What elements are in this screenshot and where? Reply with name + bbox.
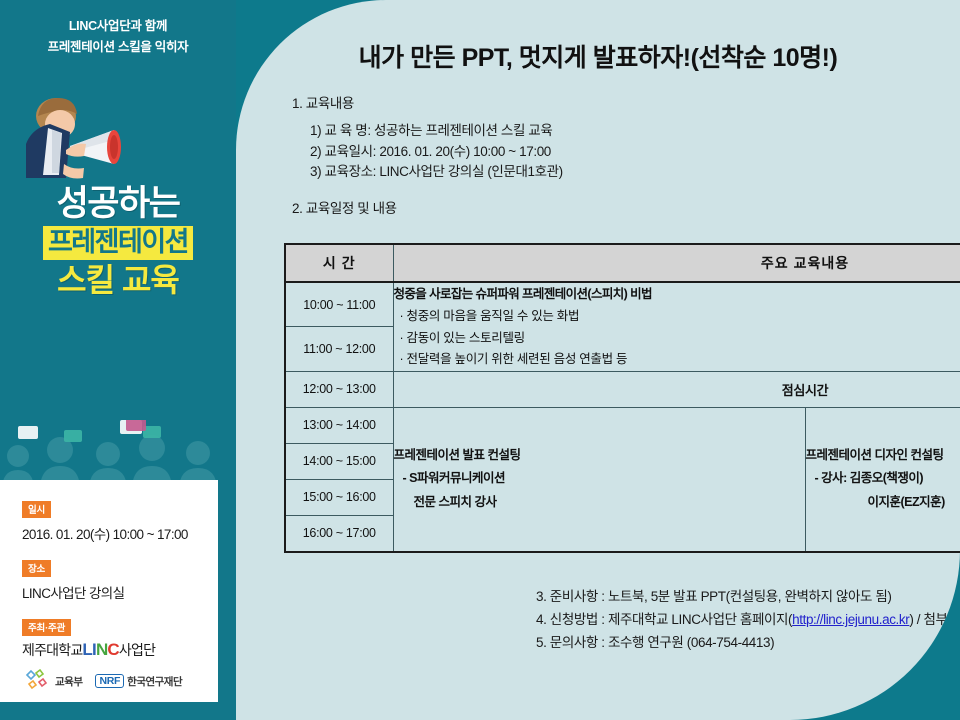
afternoon-left-line2: - S파워커뮤니케이션: [394, 467, 805, 490]
host-organization: 제주대학교LINC사업단: [22, 640, 218, 660]
info-place-block: 장소 LINC사업단 강의실: [22, 559, 218, 602]
header-time: 시 간: [285, 244, 393, 282]
morning-content-cell: 청중을 사로잡는 슈퍼파워 프레젠테이션(스피치) 비법 · 청중의 마음을 움…: [393, 282, 960, 371]
schedule-table: 시 간 주요 교육내용 구 성 10:00 ~ 11:00 청중을 사로잡는 슈…: [284, 243, 960, 553]
time-cell: 14:00 ~ 15:00: [285, 443, 393, 479]
afternoon-left-line3: 전문 스피치 강사: [394, 491, 805, 514]
morning-title: 청중을 사로잡는 슈퍼파워 프레젠테이션(스피치) 비법: [394, 283, 960, 302]
footnote-item-4: 4. 신청방법 : 제주대학교 LINC사업단 홈페이지(http://linc…: [536, 608, 960, 631]
moe-logo-text: 교육부: [55, 674, 82, 689]
tagline-line-1: LINC사업단과 함께: [0, 16, 236, 37]
time-cell: 16:00 ~ 17:00: [285, 515, 393, 552]
afternoon-left-cell: 프레젠테이션 발표 컨설팅 - S파워커뮤니케이션 전문 스피치 강사: [393, 407, 805, 552]
footnotes: 3. 준비사항 : 노트북, 5분 발표 PPT(컨설팅용, 완벽하지 않아도 …: [536, 585, 960, 655]
morning-bullet: · 전달력을 높이기 위한 세련된 음성 연출법 등: [394, 349, 960, 371]
list-item: 1) 교 육 명: 성공하는 프레젠테이션 스킬 교육: [310, 121, 932, 142]
place-value: LINC사업단 강의실: [22, 582, 218, 602]
time-cell: 11:00 ~ 12:00: [285, 327, 393, 371]
left-panel: LINC사업단과 함께 프레젠테이션 스킬을 익히자 성공하는 프: [0, 0, 236, 720]
host-badge: 주최·주관: [22, 619, 71, 637]
time-cell: 10:00 ~ 11:00: [285, 282, 393, 327]
heading-line-2: 프레젠테이션: [43, 226, 193, 260]
page-title: 내가 만든 PPT, 멋지게 발표하자!(선착순 10명!): [236, 38, 960, 74]
place-badge: 장소: [22, 560, 51, 578]
nrf-logo-text: 한국연구재단: [127, 674, 182, 689]
time-cell: 15:00 ~ 16:00: [285, 479, 393, 515]
table-row: 13:00 ~ 14:00 프레젠테이션 발표 컨설팅 - S파워커뮤니케이션 …: [285, 407, 960, 443]
table-header-row: 시 간 주요 교육내용 구 성: [285, 244, 960, 282]
date-badge: 일시: [22, 501, 51, 519]
left-heading: 성공하는 프레젠테이션 스킬 교육: [0, 185, 236, 298]
date-value: 2016. 01. 20(수) 10:00 ~ 17:00: [22, 523, 218, 543]
host-suffix: 사업단: [119, 642, 155, 658]
afternoon-right-line3: 이지훈(EZ지훈): [806, 491, 960, 514]
linc-letter-c: C: [107, 640, 118, 659]
tagline-line-2: 프레젠테이션 스킬을 익히자: [0, 37, 236, 58]
time-cell: 13:00 ~ 14:00: [285, 407, 393, 443]
afternoon-left-title: 프레젠테이션 발표 컨설팅: [394, 444, 805, 467]
speaker-megaphone-illustration: [8, 92, 158, 197]
list-item: 2) 교육일시: 2016. 01. 20(수) 10:00 ~ 17:00: [310, 142, 932, 163]
heading-line-3: 스킬 교육: [0, 263, 236, 299]
heading-line-1: 성공하는: [0, 185, 236, 223]
info-card: 일시 2016. 01. 20(수) 10:00 ~ 17:00 장소 LINC…: [0, 480, 218, 702]
linc-letter-l: L: [82, 640, 92, 659]
footnote-item-5: 5. 문의사항 : 조수행 연구원 (064-754-4413): [536, 631, 960, 654]
sponsor-logos: 교육부 NRF 한국연구재단: [22, 669, 218, 693]
nrf-mark: NRF: [95, 674, 124, 688]
morning-bullet: · 청중의 마음을 움직일 수 있는 화법: [394, 306, 960, 328]
table-row: 12:00 ~ 13:00 점심시간: [285, 371, 960, 407]
time-cell: 12:00 ~ 13:00: [285, 371, 393, 407]
afternoon-right-cell: 프레젠테이션 디자인 컨설팅 - 강사: 김종오(책쟁이) 이지훈(EZ지훈): [805, 407, 960, 552]
left-tagline: LINC사업단과 함께 프레젠테이션 스킬을 익히자: [0, 16, 236, 57]
list-item: 3) 교육장소: LINC사업단 강의실 (인문대1호관): [310, 162, 932, 183]
section-1-heading: 1. 교육내용: [292, 92, 932, 112]
host-prefix: 제주대학교: [22, 642, 82, 658]
table-row: 10:00 ~ 11:00 청중을 사로잡는 슈퍼파워 프레젠테이션(스피치) …: [285, 282, 960, 327]
schedule-table-wrapper: 시 간 주요 교육내용 구 성 10:00 ~ 11:00 청중을 사로잡는 슈…: [284, 243, 904, 553]
section-2-heading: 2. 교육일정 및 내용: [292, 197, 932, 217]
info-date-block: 일시 2016. 01. 20(수) 10:00 ~ 17:00: [22, 500, 218, 543]
section-1-list: 1) 교 육 명: 성공하는 프레젠테이션 스킬 교육 2) 교육일시: 201…: [310, 121, 932, 183]
afternoon-right-line2: - 강사: 김종오(책쟁이): [806, 467, 960, 490]
info-host-block: 주최·주관 제주대학교LINC사업단: [22, 618, 218, 693]
lunch-cell: 점심시간: [393, 371, 960, 407]
moe-star-icon: [22, 669, 52, 693]
linc-homepage-link[interactable]: http://linc.jejunu.ac.kr: [792, 612, 909, 627]
header-content: 주요 교육내용: [393, 244, 960, 282]
footnote-4-prefix: 4. 신청방법 : 제주대학교 LINC사업단 홈페이지(: [536, 612, 792, 627]
footnote-item-3: 3. 준비사항 : 노트북, 5분 발표 PPT(컨설팅용, 완벽하지 않아도 …: [536, 585, 960, 608]
intro-section: 1. 교육내용 1) 교 육 명: 성공하는 프레젠테이션 스킬 교육 2) 교…: [284, 92, 932, 217]
morning-bullet: · 감동이 있는 스토리텔링: [394, 328, 960, 350]
nrf-logo: NRF 한국연구재단: [95, 674, 182, 689]
moe-logo: 교육부: [22, 669, 82, 693]
linc-letter-n: N: [96, 640, 107, 659]
afternoon-right-title: 프레젠테이션 디자인 컨설팅: [806, 444, 960, 467]
poster-root: LINC사업단과 함께 프레젠테이션 스킬을 익히자 성공하는 프: [0, 0, 960, 720]
footnote-4-suffix: ) / 첨부파일참고: [909, 612, 960, 627]
